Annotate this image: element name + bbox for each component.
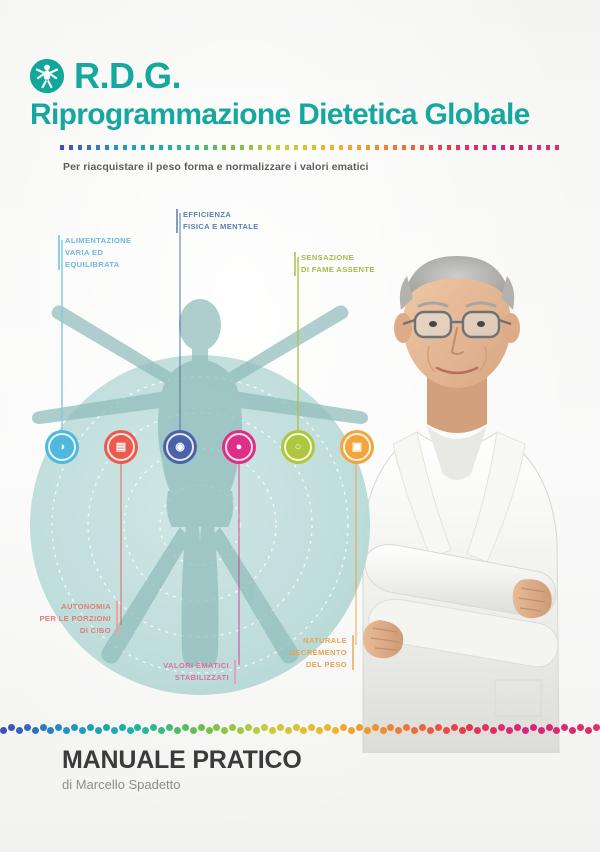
rule-dot (249, 145, 253, 150)
rule-dot (420, 145, 424, 150)
rule-dot (321, 145, 325, 150)
band-dot (71, 724, 78, 731)
cover-header: R.D.G. Riprogrammazione Dietetica Global… (30, 58, 575, 173)
band-dot (213, 724, 220, 731)
band-dot (482, 724, 489, 731)
band-dot (356, 724, 363, 731)
band-dot (561, 724, 568, 731)
band-dot (293, 724, 300, 731)
band-dot (245, 724, 252, 731)
band-dot (87, 724, 94, 731)
brain-eye-icon: ◉ (175, 442, 185, 453)
band-dot (142, 727, 149, 734)
rule-dot (222, 145, 226, 150)
rule-dot (555, 145, 559, 150)
rule-dot (375, 145, 379, 150)
rule-dot (330, 145, 334, 150)
rule-dot (528, 145, 532, 150)
band-dot (174, 727, 181, 734)
band-dot (308, 724, 315, 731)
band-dot (182, 724, 189, 731)
band-dot (277, 724, 284, 731)
blood-drop-icon: ● (236, 442, 243, 453)
rule-dot (159, 145, 163, 150)
band-dot (269, 727, 276, 734)
band-dot (530, 724, 537, 731)
band-dot (380, 727, 387, 734)
band-dot (206, 727, 213, 734)
band-dot (40, 724, 47, 731)
band-dot (324, 724, 331, 731)
scale-icon: ▤ (116, 442, 126, 453)
band-dot (8, 724, 15, 731)
benefit-pin-autonomia[interactable]: ▤ (104, 430, 138, 464)
benefit-pin-alimentazione[interactable]: ◑ (45, 430, 79, 464)
benefit-pin-valori[interactable]: ● (222, 430, 256, 464)
rule-dot (114, 145, 118, 150)
rule-dot (465, 145, 469, 150)
book-cover: R.D.G. Riprogrammazione Dietetica Global… (0, 0, 600, 852)
benefit-label-decremento: NATURALE DECREMENTO DEL PESO (262, 635, 354, 670)
band-dot (166, 724, 173, 731)
body-scale-icon: ▣ (352, 442, 362, 453)
band-dot (498, 724, 505, 731)
band-dot (546, 724, 553, 731)
brand-title: Riprogrammazione Dietetica Globale (30, 98, 575, 132)
band-dot (553, 727, 560, 734)
rule-dot (474, 145, 478, 150)
band-dot (466, 724, 473, 731)
rule-dot (456, 145, 460, 150)
benefits-infographic: ◑ ▤ ◉ ● ○ ▣ ALIMENTAZIONE VARIA ED EQUIL… (0, 195, 420, 715)
band-dot (198, 724, 205, 731)
rule-dot (60, 145, 64, 150)
band-dot (451, 724, 458, 731)
rule-dot (546, 145, 550, 150)
rule-dot (150, 145, 154, 150)
band-dot (79, 727, 86, 734)
rule-dot (348, 145, 352, 150)
band-dot (316, 727, 323, 734)
band-dot (253, 727, 260, 734)
rule-dot (492, 145, 496, 150)
rule-dot (483, 145, 487, 150)
benefit-label-valori: VALORI EMATICI STABILIZZATI (144, 660, 236, 684)
benefit-label-alimentazione: ALIMENTAZIONE VARIA ED EQUILIBRATA (58, 235, 131, 270)
rule-dot (447, 145, 451, 150)
rule-dot (276, 145, 280, 150)
band-dot (340, 724, 347, 731)
band-dot (514, 724, 521, 731)
rule-dot (366, 145, 370, 150)
rule-dot (285, 145, 289, 150)
band-dot (474, 727, 481, 734)
rule-dot (294, 145, 298, 150)
band-dot (158, 727, 165, 734)
plate-fork-icon: ◑ (59, 442, 66, 453)
rule-dot (168, 145, 172, 150)
rule-dot (123, 145, 127, 150)
benefit-pin-sensazione[interactable]: ○ (281, 430, 315, 464)
band-dot (63, 727, 70, 734)
cover-tagline: Per riacquistare il peso forma e normali… (63, 161, 575, 173)
band-dot (569, 727, 576, 734)
band-dot (285, 727, 292, 734)
benefit-pin-efficienza[interactable]: ◉ (163, 430, 197, 464)
benefit-label-autonomia: AUTONOMIA PER LE PORZIONI DI CIBO (16, 601, 118, 636)
rule-dot (231, 145, 235, 150)
band-dot (435, 724, 442, 731)
benefit-label-sensazione: SENSAZIONE DI FAME ASSENTE (294, 252, 375, 276)
rule-dot (339, 145, 343, 150)
band-dot (506, 727, 513, 734)
band-dot (32, 727, 39, 734)
rule-dot (213, 145, 217, 150)
author-name: di Marcello Spadetto (62, 778, 302, 791)
rainbow-dot-band (0, 722, 600, 738)
rule-dot (105, 145, 109, 150)
rule-dot (303, 145, 307, 150)
band-dot (237, 727, 244, 734)
brand-abbreviation: R.D.G. (74, 58, 181, 94)
rule-dot (411, 145, 415, 150)
rule-dot (393, 145, 397, 150)
rule-dot (87, 145, 91, 150)
band-dot (427, 727, 434, 734)
rule-dot (186, 145, 190, 150)
rule-dot (78, 145, 82, 150)
rule-dot (402, 145, 406, 150)
band-dot (364, 727, 371, 734)
vitruvian-figure-icon (30, 59, 64, 93)
band-dot (0, 727, 7, 734)
rule-dot (69, 145, 73, 150)
band-dot (403, 724, 410, 731)
band-dot (47, 727, 54, 734)
manual-title: MANUALE PRATICO (62, 748, 302, 773)
band-dot (24, 724, 31, 731)
rule-dot (96, 145, 100, 150)
band-dot (103, 724, 110, 731)
rule-dot (267, 145, 271, 150)
band-dot (119, 724, 126, 731)
rule-dot (240, 145, 244, 150)
band-dot (111, 727, 118, 734)
band-dot (127, 727, 134, 734)
band-dot (332, 727, 339, 734)
band-dot (221, 727, 228, 734)
band-dot (190, 727, 197, 734)
band-dot (459, 727, 466, 734)
rule-dot (357, 145, 361, 150)
band-dot (229, 724, 236, 731)
band-dot (348, 727, 355, 734)
band-dot (387, 724, 394, 731)
band-dot (577, 724, 584, 731)
band-dot (411, 727, 418, 734)
band-dot (95, 727, 102, 734)
clock-icon: ○ (295, 442, 302, 453)
rule-dot (537, 145, 541, 150)
band-dot (395, 727, 402, 734)
band-dot (490, 727, 497, 734)
brand-row: R.D.G. (30, 58, 575, 94)
rule-dot (312, 145, 316, 150)
rule-dot (195, 145, 199, 150)
band-dot (300, 727, 307, 734)
band-dot (419, 724, 426, 731)
rule-dot (429, 145, 433, 150)
band-dot (372, 724, 379, 731)
cover-footer: MANUALE PRATICO di Marcello Spadetto (62, 748, 302, 791)
benefit-pin-decremento[interactable]: ▣ (340, 430, 374, 464)
rule-dot (132, 145, 136, 150)
rule-dot (177, 145, 181, 150)
rule-dot (501, 145, 505, 150)
rule-dot (519, 145, 523, 150)
rule-dot (204, 145, 208, 150)
band-dot (585, 727, 592, 734)
band-dot (150, 724, 157, 731)
rule-dot (510, 145, 514, 150)
rule-dot (438, 145, 442, 150)
rule-dot (141, 145, 145, 150)
band-dot (538, 727, 545, 734)
band-dot (16, 727, 23, 734)
rainbow-dot-rule (60, 145, 465, 151)
band-dot (261, 724, 268, 731)
band-dot (55, 724, 62, 731)
benefit-label-efficienza: EFFICIENZA FISICA E MENTALE (176, 209, 259, 233)
rule-dot (258, 145, 262, 150)
band-dot (522, 727, 529, 734)
rule-dot (384, 145, 388, 150)
band-dot (443, 727, 450, 734)
band-dot (134, 724, 141, 731)
band-dot (593, 724, 600, 731)
